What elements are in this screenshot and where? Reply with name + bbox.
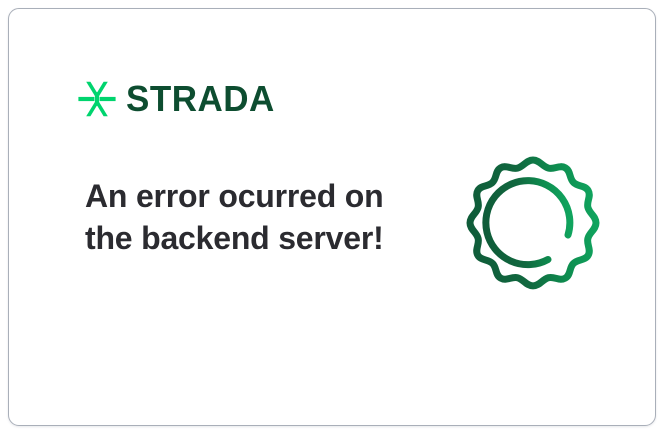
error-card: STRADA An error ocurred on the backend s… [8, 8, 656, 426]
brand-wordmark: STRADA [126, 81, 275, 117]
strada-asterisk-icon [77, 79, 117, 119]
error-screen: STRADA An error ocurred on the backend s… [0, 0, 666, 436]
brand-logo: STRADA [77, 75, 275, 123]
gear-icon [455, 152, 611, 308]
error-message: An error ocurred on the backend server! [85, 175, 385, 259]
